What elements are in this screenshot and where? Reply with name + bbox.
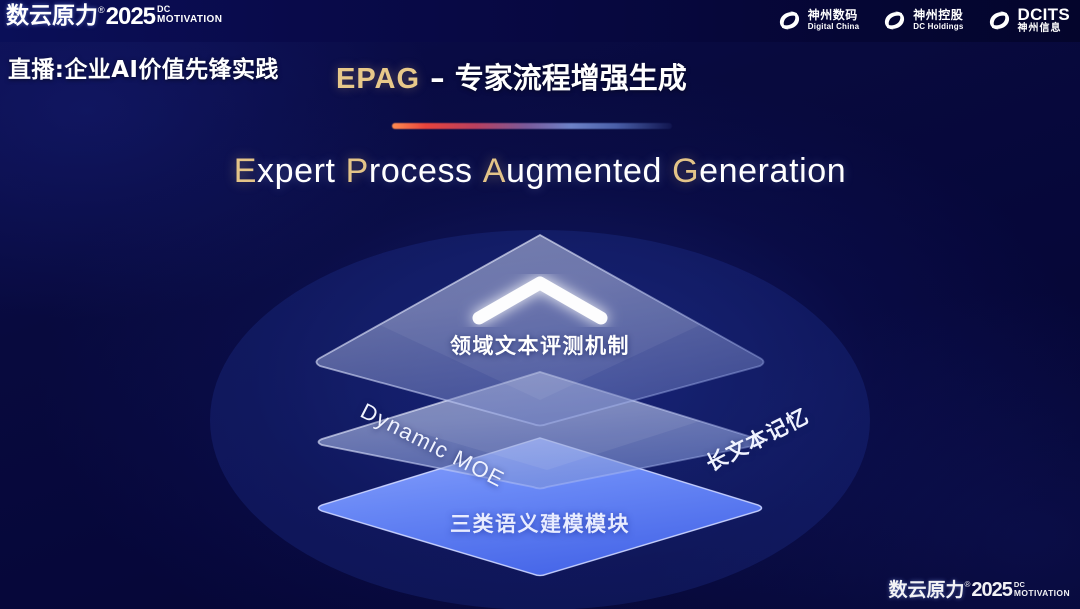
subtitle-rest-augmented: ugmented: [506, 152, 662, 190]
brand-logo-registered: ®: [98, 4, 105, 16]
partner-text-dc-holdings: 神州控股 DC Holdings: [913, 9, 963, 31]
brand-logo: 数云原力 ® 2025 DC MOTIVATION: [6, 4, 222, 29]
diagram-label-top: 领域文本评测机制: [0, 330, 1080, 360]
subtitle-rest-expert: xpert: [257, 152, 336, 190]
partner-logo-group: 神州数码 Digital China 神州控股 DC Holdings DCIT…: [776, 6, 1070, 34]
brand-logo-dc-motivation: DC MOTIVATION: [157, 5, 222, 24]
diagram-label-middle-right: 长文本记忆: [700, 400, 814, 478]
title-divider: [392, 123, 672, 129]
partner-text-digital-china: 神州数码 Digital China: [808, 9, 860, 31]
partner-text-dcits: DCITS 神州信息: [1018, 6, 1071, 34]
chevron-up-icon: [479, 283, 601, 318]
brand-logo-cn: 数云原力: [6, 4, 98, 29]
subtitle-cap-a: A: [483, 152, 506, 190]
watermark-cn: 数云原力: [888, 580, 964, 601]
subtitle-cap-g: G: [672, 152, 699, 190]
brand-logo-year: 2025: [106, 4, 155, 29]
brand-logo-motivation: MOTIVATION: [157, 15, 222, 25]
watermark-motivation: MOTIVATION: [1014, 589, 1070, 597]
partner-en-dc-holdings: DC Holdings: [913, 23, 963, 31]
subtitle-rest-process: rocess: [369, 152, 473, 190]
diagram-label-middle-left: Dynamic MOE: [356, 398, 509, 493]
subtitle-rest-generation: eneration: [699, 152, 846, 190]
swirl-icon: [776, 7, 803, 34]
partner-cn-digital-china: 神州数码: [808, 9, 860, 21]
page-title-acronym: EPAG: [336, 63, 420, 95]
watermark-dc-motivation: DC MOTIVATION: [1014, 581, 1070, 597]
subtitle-cap-p: P: [346, 152, 369, 190]
subtitle-cap-e: E: [234, 152, 257, 190]
partner-logo-dc-holdings: 神州控股 DC Holdings: [881, 7, 963, 34]
page-subtitle: Expert Process Augmented Generation: [0, 152, 1080, 191]
diagram-label-bottom: 三类语义建模模块: [0, 508, 1080, 538]
partner-en-dcits: DCITS: [1018, 6, 1071, 23]
page-title-separator: –: [420, 61, 455, 95]
brand-watermark: 数云原力 ® 2025 DC MOTIVATION: [888, 580, 1070, 601]
partner-cn-dc-holdings: 神州控股: [913, 9, 963, 21]
watermark-registered: ®: [964, 580, 970, 590]
live-program-title: 直播:企业AI价值先锋实践: [8, 50, 279, 84]
partner-en-digital-china: Digital China: [808, 23, 860, 31]
partner-logo-dcits: DCITS 神州信息: [986, 6, 1071, 34]
swirl-icon: [881, 7, 908, 34]
partner-cn-dcits: 神州信息: [1018, 24, 1071, 34]
page-title: EPAG – 专家流程增强生成: [336, 55, 687, 97]
swirl-icon: [986, 7, 1013, 34]
slide-canvas: 数云原力 ® 2025 DC MOTIVATION 直播:企业AI价值先锋实践 …: [0, 0, 1080, 609]
diagram-layer-bottom: [319, 438, 762, 576]
watermark-year: 2025: [971, 580, 1012, 601]
partner-logo-digital-china: 神州数码 Digital China: [776, 7, 860, 34]
page-title-chinese: 专家流程增强生成: [455, 61, 687, 95]
